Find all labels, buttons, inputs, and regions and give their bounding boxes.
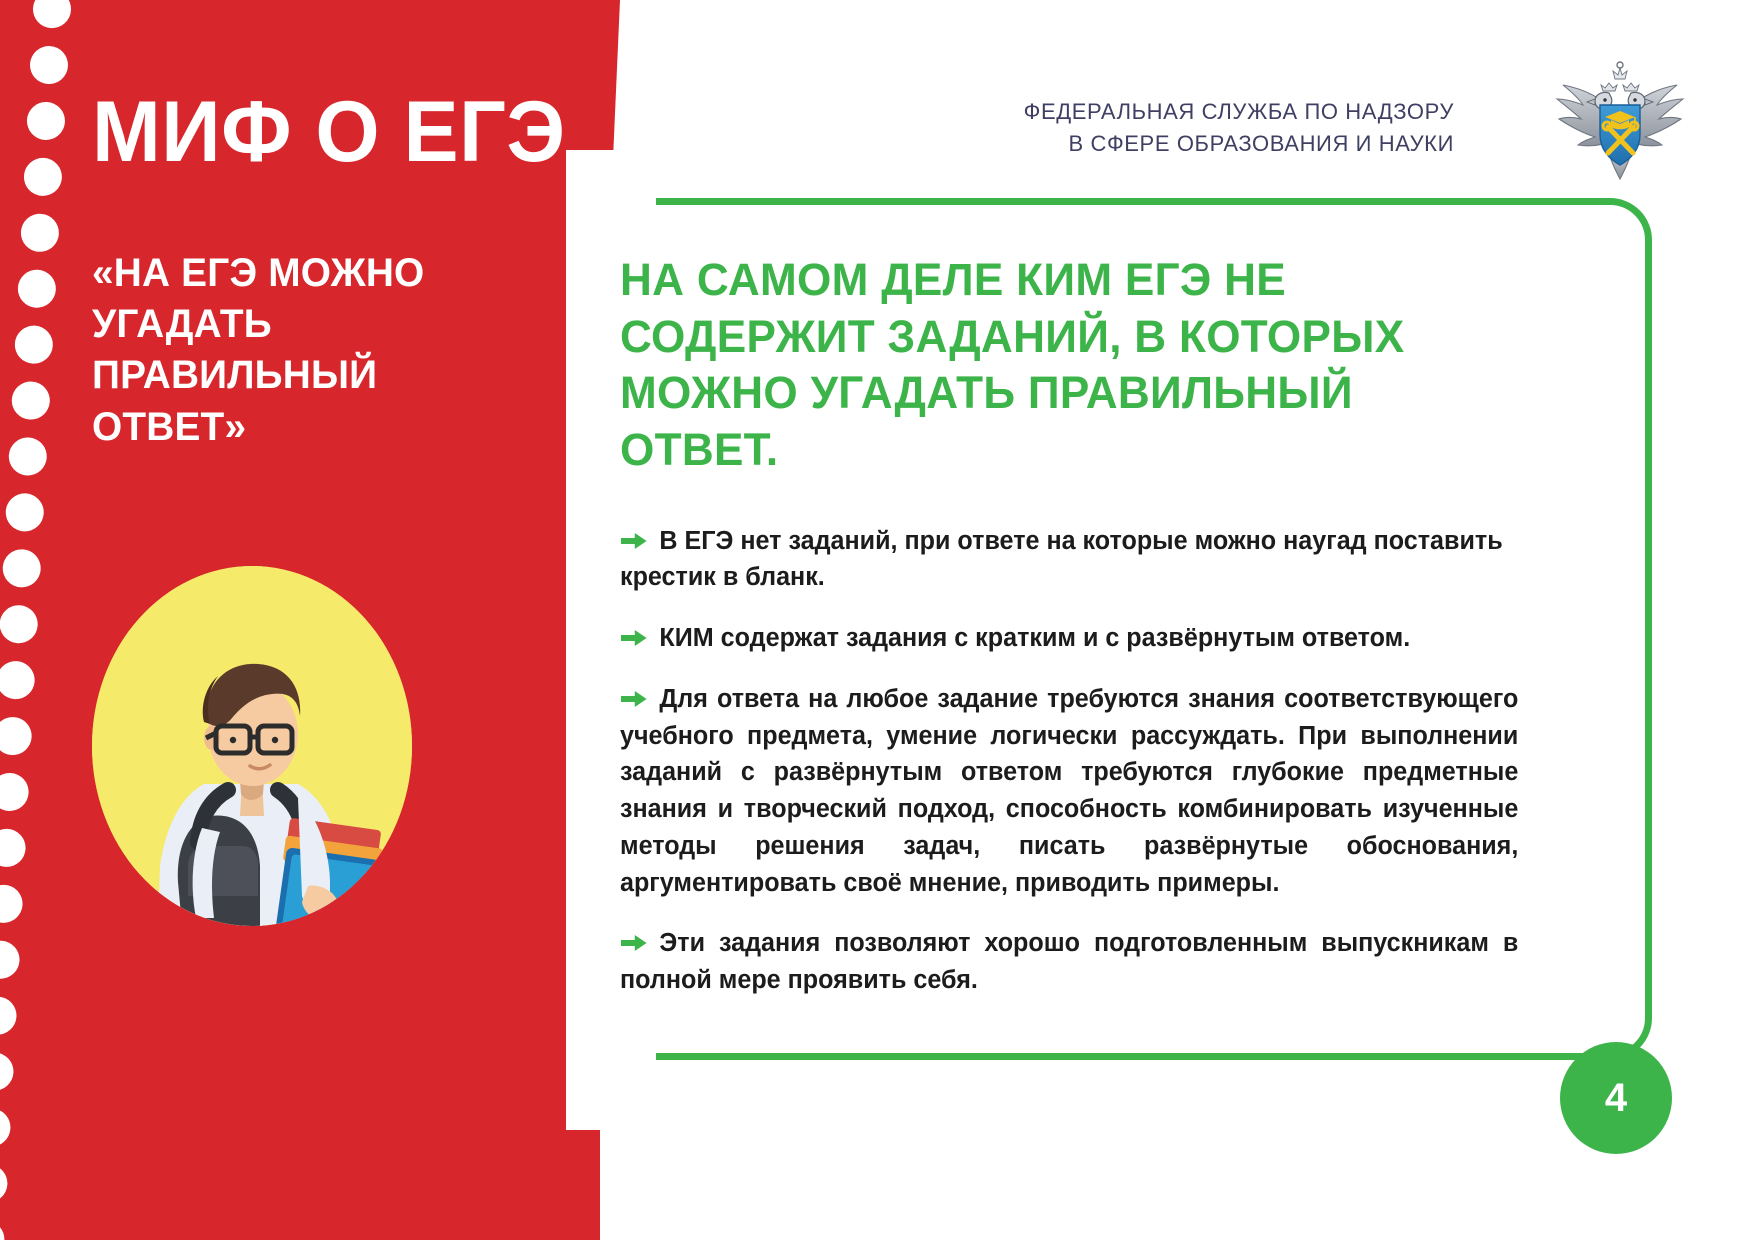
myth-quote-text: «НА ЕГЭ МОЖНО УГАДАТЬ ПРАВИЛЬНЫЙ ОТВЕТ» bbox=[92, 248, 480, 453]
list-item-text: КИМ содержат задания с кратким и с развё… bbox=[659, 624, 1410, 652]
student-with-backpack-and-books-icon bbox=[92, 566, 412, 926]
list-item: КИМ содержат задания с кратким и с развё… bbox=[620, 620, 1518, 657]
green-right-arrow-icon bbox=[620, 933, 650, 953]
page-number-badge: 4 bbox=[1560, 1042, 1672, 1154]
org-line-1: ФЕДЕРАЛЬНАЯ СЛУЖБА ПО НАДЗОРУ bbox=[1024, 96, 1454, 128]
organization-name: ФЕДЕРАЛЬНАЯ СЛУЖБА ПО НАДЗОРУ В СФЕРЕ ОБ… bbox=[1024, 96, 1454, 160]
list-item: Эти задания позволяют хорошо подготовлен… bbox=[620, 925, 1518, 998]
rosobrnadzor-emblem-icon bbox=[1545, 55, 1695, 180]
org-line-2: В СФЕРЕ ОБРАЗОВАНИЯ И НАУКИ bbox=[1024, 128, 1454, 160]
list-item-text: Эти задания позволяют хорошо подготовлен… bbox=[620, 929, 1518, 994]
fact-card-content: НА САМОМ ДЕЛЕ КИМ ЕГЭ НЕ СОДЕРЖИТ ЗАДАНИ… bbox=[620, 252, 1532, 1023]
list-item: Для ответа на любое задание требуются зн… bbox=[620, 681, 1518, 901]
list-item-text: В ЕГЭ нет заданий, при ответе на которые… bbox=[620, 527, 1503, 592]
page-title: МИФ О ЕГЭ bbox=[92, 92, 566, 174]
illustration bbox=[92, 566, 412, 926]
fact-headline: НА САМОМ ДЕЛЕ КИМ ЕГЭ НЕ СОДЕРЖИТ ЗАДАНИ… bbox=[620, 252, 1514, 479]
green-right-arrow-icon bbox=[620, 628, 650, 648]
student-illustration-circle bbox=[92, 566, 412, 926]
green-right-arrow-icon bbox=[620, 531, 650, 551]
list-item: В ЕГЭ нет заданий, при ответе на которые… bbox=[620, 523, 1518, 596]
fact-bullet-list: В ЕГЭ нет заданий, при ответе на которые… bbox=[620, 523, 1532, 999]
list-item-text: Для ответа на любое задание требуются зн… bbox=[620, 685, 1518, 897]
green-right-arrow-icon bbox=[620, 689, 650, 709]
poster-page: МИФ О ЕГЭ «НА ЕГЭ МОЖНО УГАДАТЬ ПРАВИЛЬН… bbox=[0, 0, 1754, 1240]
